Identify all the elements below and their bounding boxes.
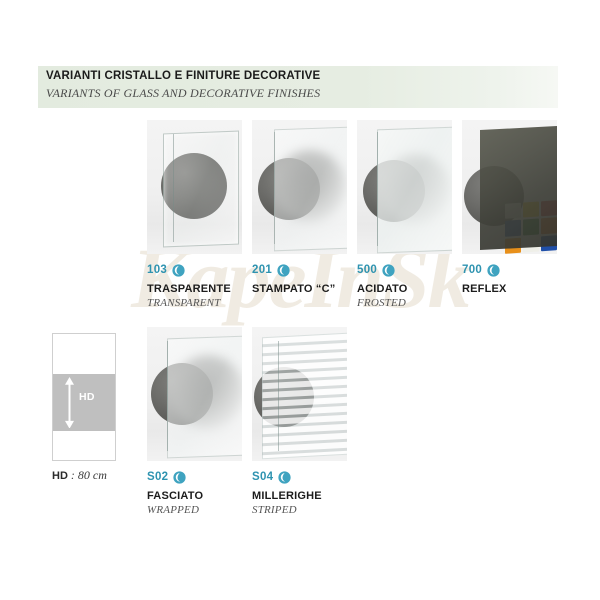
swatch-translation: TRANSPARENT <box>147 297 242 309</box>
hd-caption-separator: : <box>68 468 78 482</box>
page-subtitle: VARIANTS OF GLASS AND DECORATIVE FINISHE… <box>46 86 320 101</box>
glass-edge <box>167 341 168 451</box>
glass-edge <box>173 134 174 242</box>
glass-pane <box>167 336 242 459</box>
glass-drop-icon <box>172 264 185 277</box>
glass-edge <box>278 341 279 451</box>
swatch-code-row: 500 <box>357 262 452 278</box>
swatch-image-acidato <box>357 120 452 254</box>
swatch-image-reflex <box>462 120 557 254</box>
swatch-code: 700 <box>462 264 482 276</box>
swatch-name: TRASPARENTE <box>147 283 242 295</box>
swatch-name: STAMPATO “C” <box>252 283 347 295</box>
swatch-103[interactable]: 103 TRASPARENTE TRANSPARENT <box>147 120 242 309</box>
hd-band-label: HD <box>79 391 95 403</box>
glass-drop-icon <box>487 264 500 277</box>
glass-drop-icon <box>173 471 186 484</box>
swatch-translation: FROSTED <box>357 297 452 309</box>
glass-pane <box>377 127 452 254</box>
swatch-code-row: 700 <box>462 262 557 278</box>
glass-pane <box>480 126 557 250</box>
hd-dimension-diagram: HD <box>52 333 116 461</box>
glass-pane <box>163 131 239 248</box>
swatch-image-millerighe <box>252 327 347 461</box>
glass-drop-icon <box>277 264 290 277</box>
page-title: VARIANTI CRISTALLO E FINITURE DECORATIVE <box>46 70 320 82</box>
swatch-code: S02 <box>147 471 168 483</box>
swatch-translation: WRAPPED <box>147 504 242 516</box>
swatch-code-row: 103 <box>147 262 242 278</box>
glass-drop-icon <box>278 471 291 484</box>
swatch-translation: STRIPED <box>252 504 347 516</box>
hd-caption-label: HD <box>52 470 68 482</box>
swatch-code: S04 <box>252 471 273 483</box>
swatch-name: FASCIATO <box>147 490 242 502</box>
glass-pane <box>262 333 347 460</box>
hd-caption: HD : 80 cm <box>52 468 107 483</box>
swatch-s02[interactable]: S02 FASCIATO WRAPPED <box>147 327 242 516</box>
swatch-code: 500 <box>357 264 377 276</box>
glass-pane <box>274 127 347 252</box>
swatch-code-row: S02 <box>147 469 242 485</box>
swatch-700[interactable]: 700 REFLEX <box>462 120 557 297</box>
glass-drop-icon <box>382 264 395 277</box>
swatch-code-row: S04 <box>252 469 347 485</box>
swatch-code: 103 <box>147 264 167 276</box>
swatch-201[interactable]: 201 STAMPATO “C” <box>252 120 347 297</box>
swatch-image-transparent <box>147 120 242 254</box>
hd-caption-value: 80 cm <box>78 468 107 482</box>
swatch-code: 201 <box>252 264 272 276</box>
swatch-500[interactable]: 500 ACIDATO FROSTED <box>357 120 452 309</box>
hd-double-arrow-icon <box>64 377 75 429</box>
swatch-code-row: 201 <box>252 262 347 278</box>
glass-edge <box>274 132 275 244</box>
swatch-name: ACIDATO <box>357 283 452 295</box>
swatch-image-fasciato <box>147 327 242 461</box>
swatch-name: MILLERIGHE <box>252 490 347 502</box>
section-header-band: VARIANTI CRISTALLO E FINITURE DECORATIVE… <box>38 66 558 108</box>
glass-edge <box>377 132 378 246</box>
swatch-name: REFLEX <box>462 283 557 295</box>
swatch-image-stampato-c <box>252 120 347 254</box>
swatch-s04[interactable]: S04 MILLERIGHE STRIPED <box>252 327 347 516</box>
